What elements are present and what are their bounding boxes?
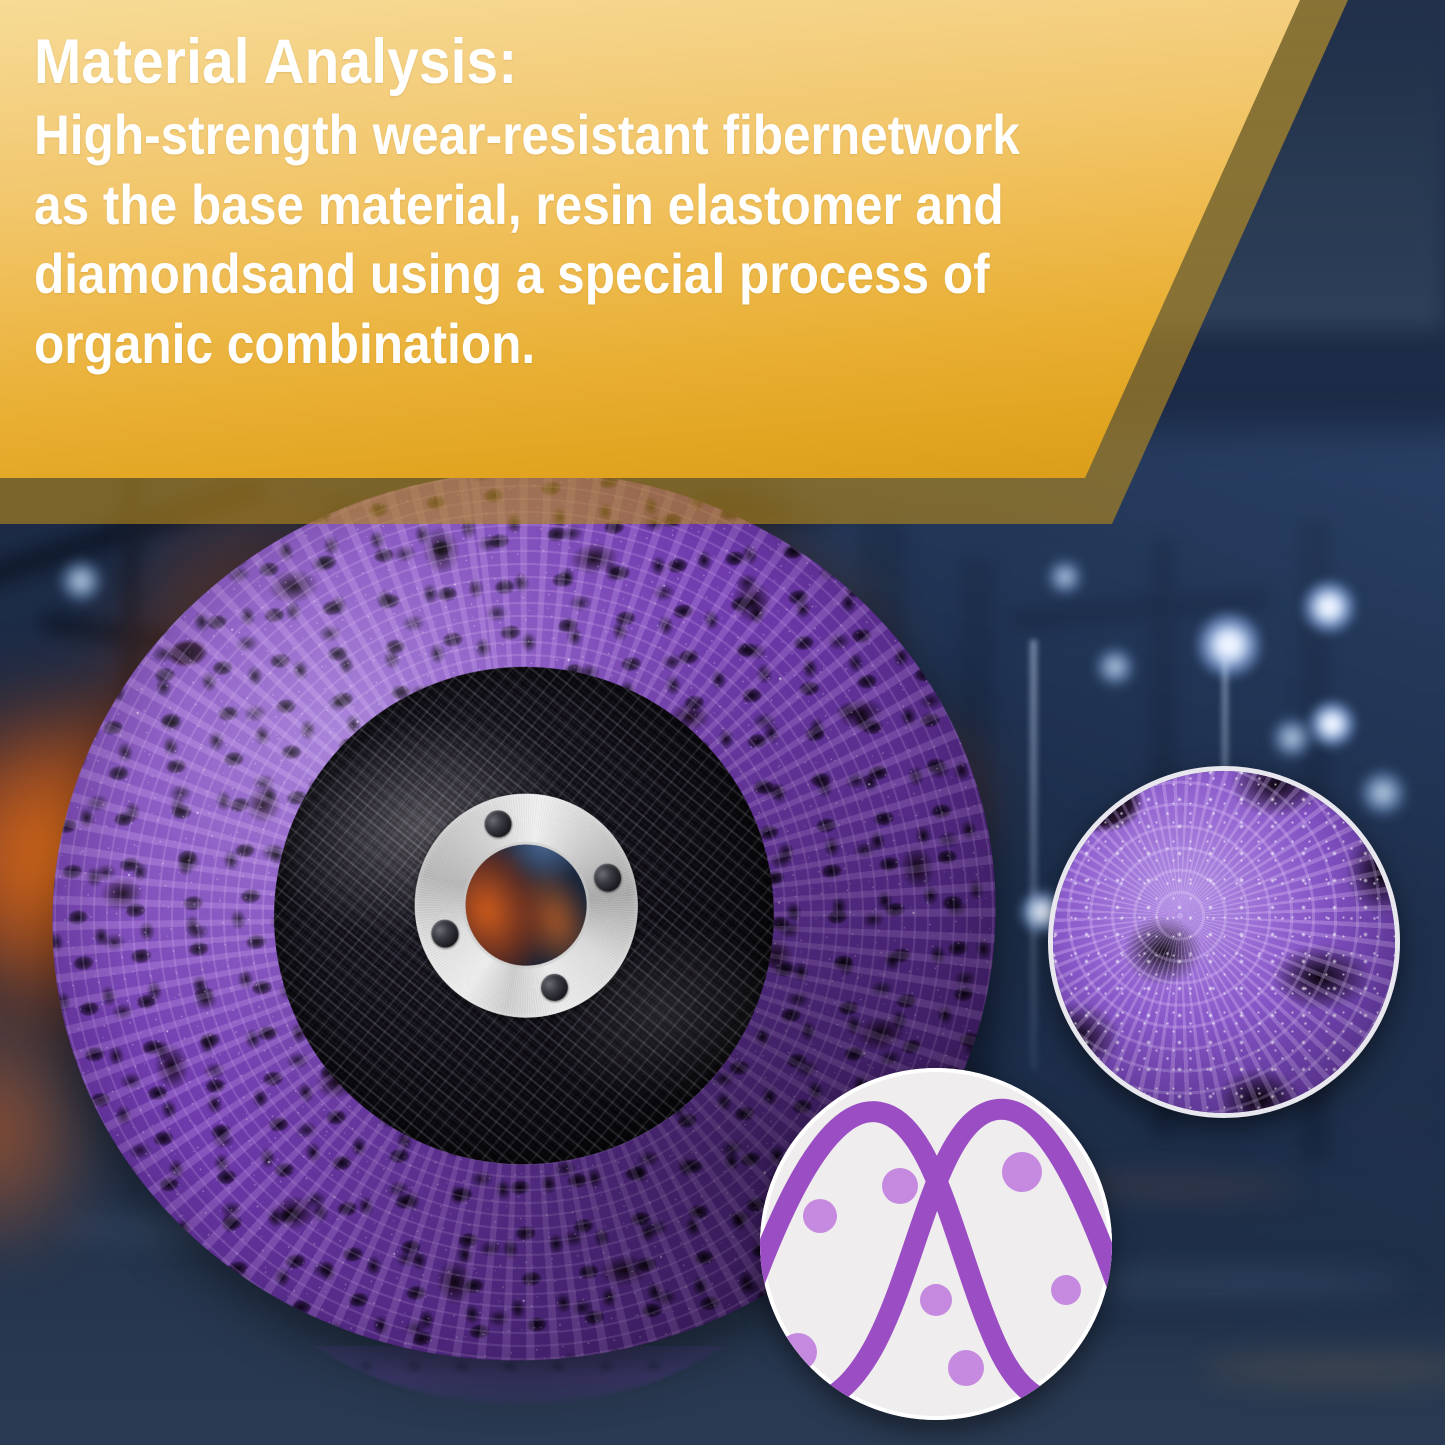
inset-vignette — [1053, 771, 1395, 1113]
banner-body-line-4: organic combination. — [34, 309, 1149, 378]
banner-body-line-1: High-strength wear-resistant fibernetwor… — [34, 100, 1149, 169]
sine-wave-badge — [760, 1068, 1112, 1420]
macro-detail-inset — [1048, 766, 1400, 1118]
product-marketing-image: Material Analysis: High-strength wear-re… — [0, 0, 1445, 1445]
banner-text-block: Material Analysis: High-strength wear-re… — [34, 30, 1294, 378]
banner-title: Material Analysis: — [34, 30, 1168, 94]
banner-body-line-2: as the base material, resin elastomer an… — [34, 170, 1149, 239]
banner-panel: Material Analysis: High-strength wear-re… — [0, 0, 1300, 478]
banner-body-line-3: diamondsand using a special process of — [34, 239, 1149, 308]
